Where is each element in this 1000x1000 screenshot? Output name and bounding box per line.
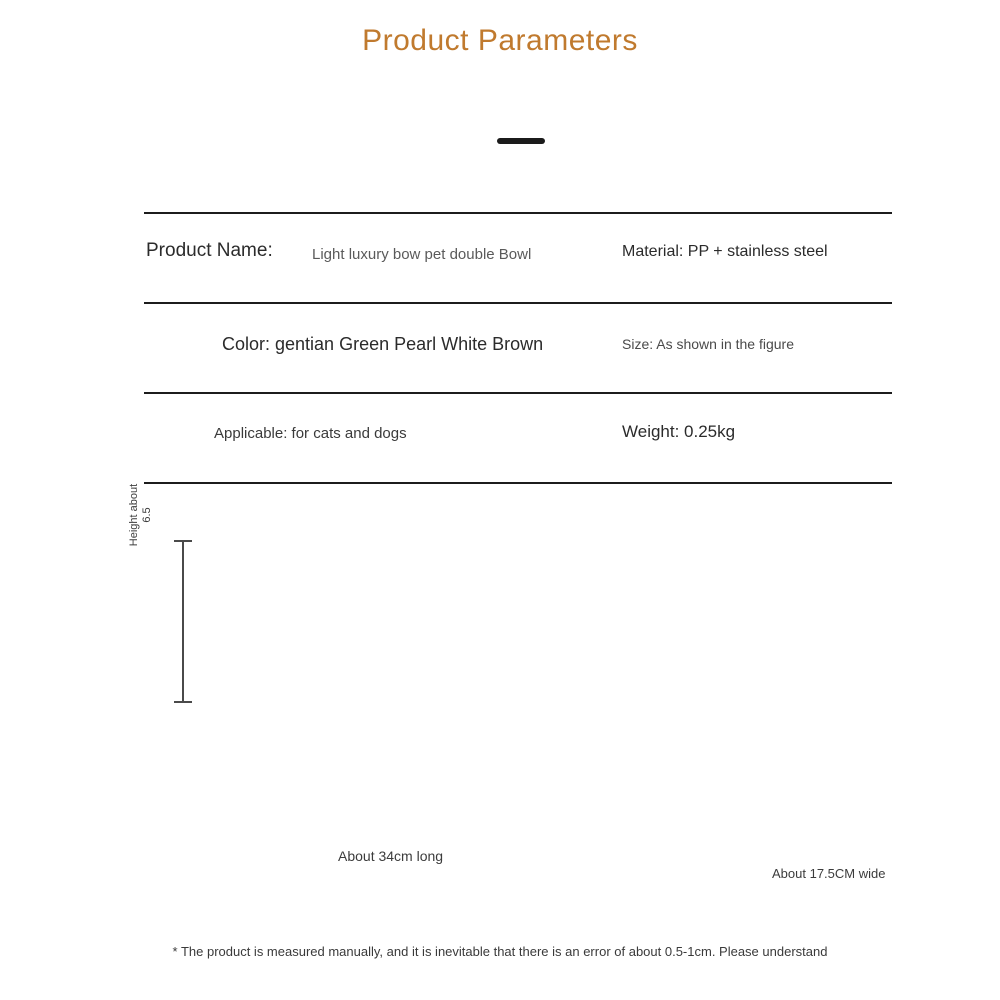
height-dimension-cap-top <box>174 540 192 542</box>
page-title: Product Parameters <box>0 24 1000 58</box>
height-dimension-label: Height about 6.5 <box>128 460 154 570</box>
height-dimension-line <box>182 540 184 703</box>
color-value: Color: gentian Green Pearl White Brown <box>222 334 543 355</box>
applicable-value: Applicable: for cats and dogs <box>214 425 407 442</box>
dash-icon <box>497 138 545 144</box>
weight-value: Weight: 0.25kg <box>622 422 735 442</box>
size-value: Size: As shown in the figure <box>622 336 794 352</box>
spec-table: Product Name: Light luxury bow pet doubl… <box>144 212 892 484</box>
table-row: Applicable: for cats and dogs Weight: 0.… <box>144 392 892 484</box>
material-value: Material: PP + stainless steel <box>622 243 828 261</box>
table-row: Product Name: Light luxury bow pet doubl… <box>144 212 892 302</box>
product-name-value: Light luxury bow pet double Bowl <box>312 246 531 263</box>
height-dimension-cap-bottom <box>174 701 192 703</box>
measurement-footnote: * The product is measured manually, and … <box>0 944 1000 959</box>
width-dimension-label: About 17.5CM wide <box>772 866 885 881</box>
length-dimension-label: About 34cm long <box>338 848 443 864</box>
table-row: Color: gentian Green Pearl White Brown S… <box>144 302 892 392</box>
product-name-label: Product Name: <box>146 240 273 262</box>
